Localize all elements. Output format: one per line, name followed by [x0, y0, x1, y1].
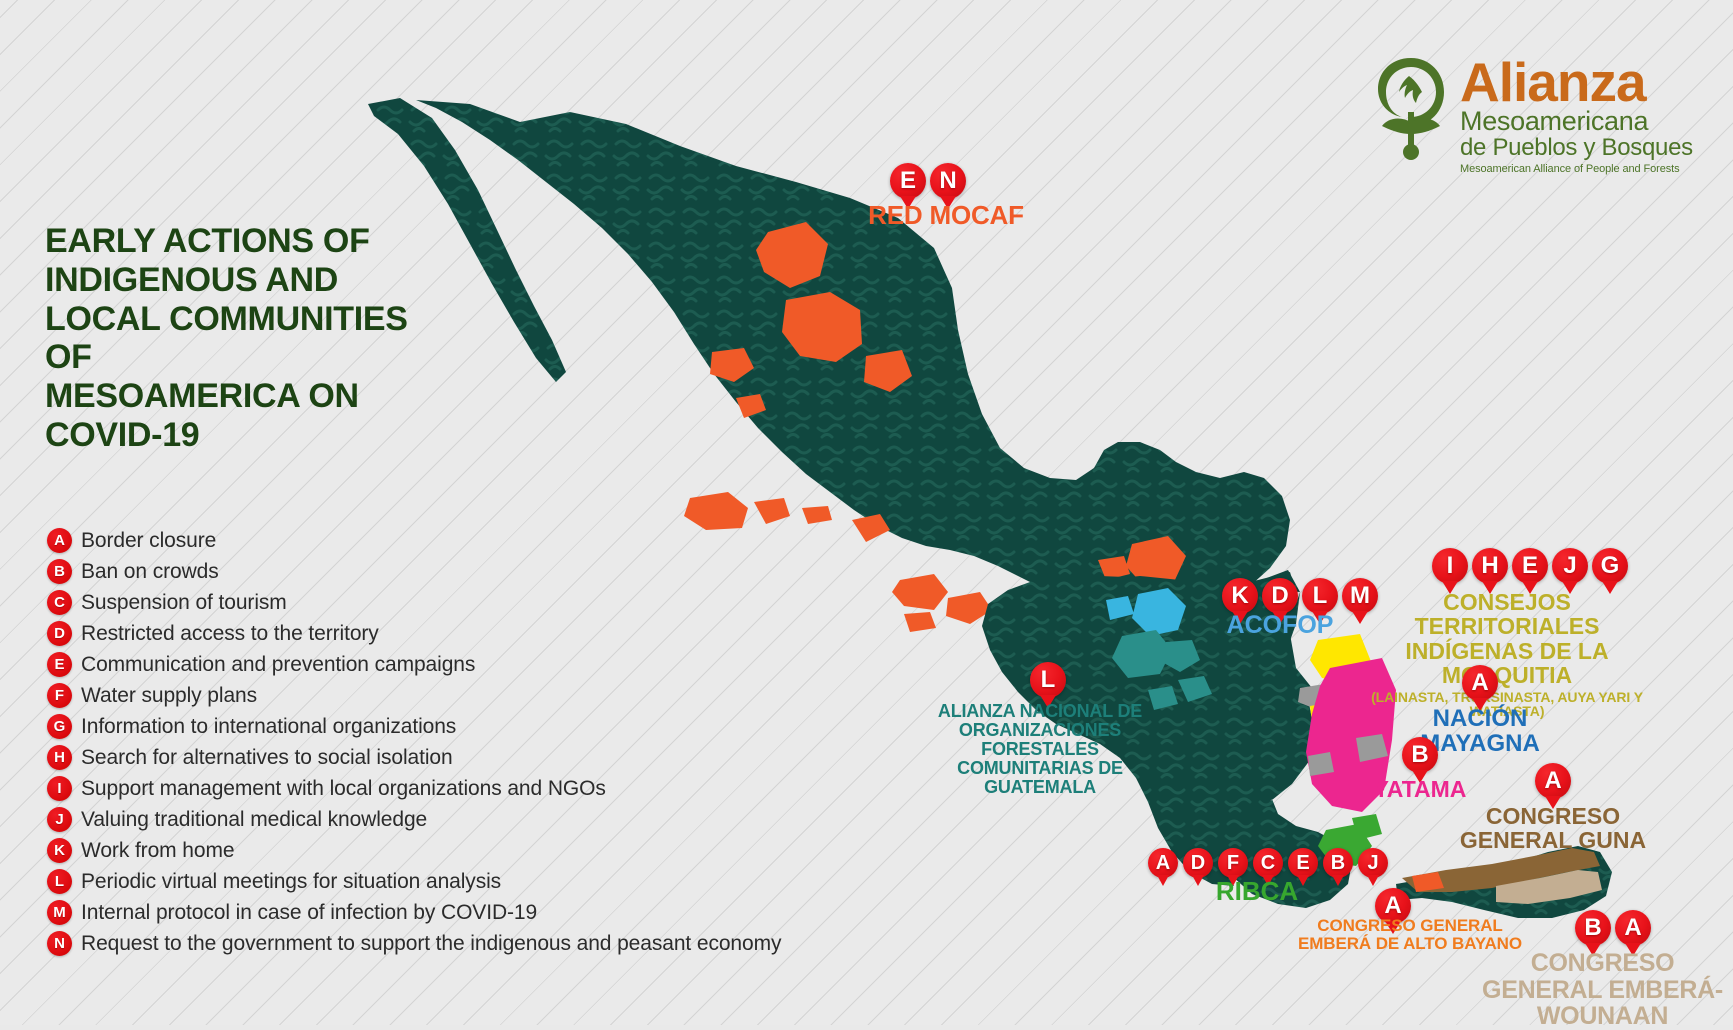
legend-label: Internal protocol in case of infection b…: [81, 901, 537, 925]
map-label-red-mocaf: RED MOCAF: [856, 202, 1036, 230]
pin-letter: H: [1472, 548, 1508, 584]
logo-tagline-text: Mesoamerican Alliance of People and Fore…: [1460, 163, 1693, 175]
legend-label: Request to the government to support the…: [81, 932, 781, 956]
legend-badge-k: K: [47, 838, 72, 863]
pin-letter: F: [1218, 848, 1248, 878]
page-title: EARLY ACTIONS OF INDIGENOUS AND LOCAL CO…: [45, 222, 475, 455]
pin-letter: G: [1592, 548, 1628, 584]
map-label-ribca: RIBCA: [1197, 878, 1317, 906]
map-label-guna: CONGRESO GENERAL GUNA: [1438, 804, 1668, 853]
pin-letter: L: [1302, 578, 1338, 614]
pin-letter: N: [930, 163, 966, 199]
legend-item: I Support management with local organiza…: [47, 773, 781, 804]
pin-letter: D: [1183, 848, 1213, 878]
pin-letter: J: [1552, 548, 1588, 584]
legend-label: Support management with local organizati…: [81, 777, 606, 801]
legend-label: Communication and prevention campaigns: [81, 653, 475, 677]
legend-label: Valuing traditional medical knowledge: [81, 808, 427, 832]
legend-item: M Internal protocol in case of infection…: [47, 897, 781, 928]
map-label-consejos-main: CONSEJOS TERRITORIALES INDÍGENAS DE LA M…: [1405, 589, 1608, 688]
legend-badge-j: J: [47, 807, 72, 832]
pin-ribca-j[interactable]: J: [1358, 848, 1388, 887]
pin-tail: [1367, 875, 1379, 886]
legend-item: E Communication and prevention campaigns: [47, 649, 781, 680]
legend-badge-a: A: [47, 528, 72, 553]
legend-badge-n: N: [47, 931, 72, 956]
legend-label: Information to international organizatio…: [81, 715, 456, 739]
pin-tail: [1157, 875, 1169, 886]
title-line: INDIGENOUS AND: [45, 261, 475, 300]
legend-item: L Periodic virtual meetings for situatio…: [47, 866, 781, 897]
panama: [1396, 846, 1612, 918]
logo-alianza-text: Alianza: [1460, 58, 1693, 108]
legend-label: Water supply plans: [81, 684, 257, 708]
legend-item: K Work from home: [47, 835, 781, 866]
legend-item: F Water supply plans: [47, 680, 781, 711]
legend: A Border closure B Ban on crowds C Suspe…: [47, 525, 781, 959]
map-label-bayano: CONGRESO GENERAL EMBERÁ DE ALTO BAYANO: [1290, 917, 1530, 953]
pin-letter: I: [1432, 548, 1468, 584]
pin-letter: K: [1222, 578, 1258, 614]
legend-label: Periodic virtual meetings for situation …: [81, 870, 501, 894]
title-line: OF: [45, 338, 475, 377]
legend-label: Restricted access to the territory: [81, 622, 379, 646]
logo-mesoamericana-text: Mesoamericana: [1460, 108, 1693, 136]
pin-letter: B: [1323, 848, 1353, 878]
map-label-wounaan: CONGRESO GENERAL EMBERÁ-WOUNAAN: [1470, 950, 1733, 1030]
legend-item: J Valuing traditional medical knowledge: [47, 804, 781, 835]
legend-badge-f: F: [47, 683, 72, 708]
pin-letter: C: [1253, 848, 1283, 878]
map-label-yatama: YATAMA: [1355, 777, 1485, 801]
title-line: LOCAL COMMUNITIES: [45, 300, 475, 339]
pin-consejos-h[interactable]: H: [1472, 548, 1508, 594]
legend-badge-m: M: [47, 900, 72, 925]
legend-item: A Border closure: [47, 525, 781, 556]
pin-letter: A: [1148, 848, 1178, 878]
pin-ribca-b[interactable]: B: [1323, 848, 1353, 887]
logo-pueblos-text: de Pueblos y Bosques: [1460, 135, 1693, 160]
pin-tail: [1332, 875, 1344, 886]
tree-logo-icon: [1368, 52, 1454, 162]
pin-letter: A: [1462, 665, 1498, 701]
pin-consejos-j[interactable]: J: [1552, 548, 1588, 594]
pin-letter: E: [1288, 848, 1318, 878]
legend-badge-l: L: [47, 869, 72, 894]
legend-badge-g: G: [47, 714, 72, 739]
map-label-consejos: CONSEJOS TERRITORIALES INDÍGENAS DE LA M…: [1352, 590, 1662, 719]
legend-label: Work from home: [81, 839, 234, 863]
pin-letter: J: [1358, 848, 1388, 878]
legend-badge-i: I: [47, 776, 72, 801]
legend-label: Suspension of tourism: [81, 591, 287, 615]
pin-letter: B: [1402, 737, 1438, 773]
legend-label: Border closure: [81, 529, 216, 553]
legend-item: H Search for alternatives to social isol…: [47, 742, 781, 773]
pin-letter: B: [1575, 910, 1611, 946]
title-line: EARLY ACTIONS OF: [45, 222, 475, 261]
alianza-logo: Alianza Mesoamericana de Pueblos y Bosqu…: [1368, 52, 1693, 175]
title-line: COVID-19: [45, 416, 475, 455]
legend-item: D Restricted access to the territory: [47, 618, 781, 649]
legend-badge-c: C: [47, 590, 72, 615]
pin-ribca-a[interactable]: A: [1148, 848, 1178, 887]
pin-consejos-e[interactable]: E: [1512, 548, 1548, 594]
legend-item: G Information to international organizat…: [47, 711, 781, 742]
pin-letter: A: [1535, 763, 1571, 799]
map-label-acofop: ACOFOP: [1200, 612, 1360, 639]
legend-badge-h: H: [47, 745, 72, 770]
legend-label: Search for alternatives to social isolat…: [81, 746, 453, 770]
pin-consejos-i[interactable]: I: [1432, 548, 1468, 594]
legend-item: B Ban on crowds: [47, 556, 781, 587]
pin-letter: L: [1030, 662, 1066, 698]
pin-letter: A: [1615, 910, 1651, 946]
title-line: MESOAMERICA ON: [45, 377, 475, 416]
legend-label: Ban on crowds: [81, 560, 219, 584]
pin-letter: E: [890, 163, 926, 199]
legend-item: N Request to the government to support t…: [47, 928, 781, 959]
legend-badge-b: B: [47, 559, 72, 584]
pin-consejos-g[interactable]: G: [1592, 548, 1628, 594]
map-label-guatemala: ALIANZA NACIONAL DE ORGANIZACIONES FORES…: [920, 702, 1160, 797]
legend-item: C Suspension of tourism: [47, 587, 781, 618]
legend-badge-e: E: [47, 652, 72, 677]
legend-badge-d: D: [47, 621, 72, 646]
pin-letter: D: [1262, 578, 1298, 614]
pin-letter: E: [1512, 548, 1548, 584]
